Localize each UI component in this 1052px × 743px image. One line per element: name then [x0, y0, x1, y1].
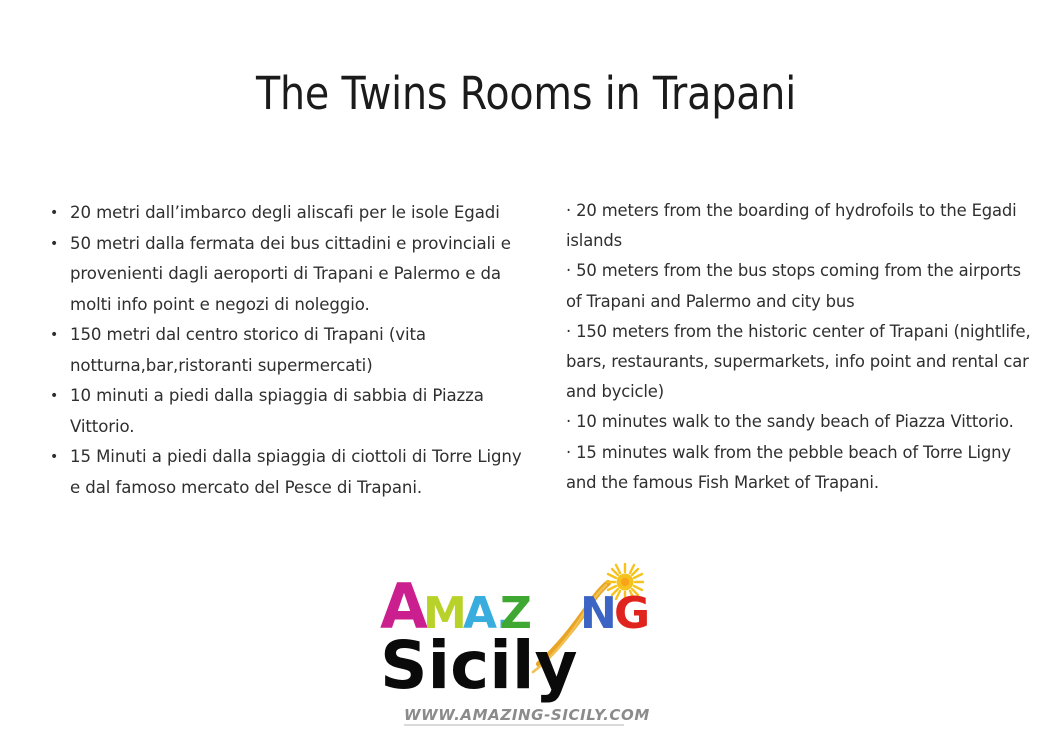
logo-wordmark-sicily: Sicily: [380, 627, 578, 704]
english-description-column: · 20 meters from the boarding of hydrofo…: [566, 196, 1034, 498]
list-item: 20 metri dall’imbarco degli aliscafi per…: [44, 198, 536, 229]
page-title: The Twins Rooms in Trapani: [63, 68, 989, 120]
list-item: 15 Minuti a piedi dalla spiaggia di ciot…: [44, 442, 536, 503]
list-item: · 150 meters from the historic center of…: [566, 317, 1034, 408]
italian-description-column: 20 metri dall’imbarco degli aliscafi per…: [44, 198, 536, 503]
list-item: · 50 meters from the bus stops coming fr…: [566, 256, 1034, 316]
logo-url-text: WWW.AMAZING-SICILY.COM: [404, 706, 650, 724]
list-item: 50 metri dalla fermata dei bus cittadini…: [44, 229, 536, 321]
list-item: 10 minuti a piedi dalla spiaggia di sabb…: [44, 381, 536, 442]
amazing-sicily-logo: A M A . Z N G Sicily WWW.AMAZING-SICILY.…: [362, 560, 692, 732]
list-item: 150 metri dal centro storico di Trapani …: [44, 320, 536, 381]
logo-letter-g: G: [614, 588, 650, 639]
slide-canvas: The Twins Rooms in Trapani 20 metri dall…: [0, 0, 1052, 743]
list-item: · 10 minutes walk to the sandy beach of …: [566, 407, 1034, 437]
list-item: · 15 minutes walk from the pebble beach …: [566, 438, 1034, 498]
italian-bullet-list: 20 metri dall’imbarco degli aliscafi per…: [44, 198, 536, 503]
list-item: · 20 meters from the boarding of hydrofo…: [566, 196, 1034, 256]
logo-letter-n: N: [580, 588, 617, 639]
